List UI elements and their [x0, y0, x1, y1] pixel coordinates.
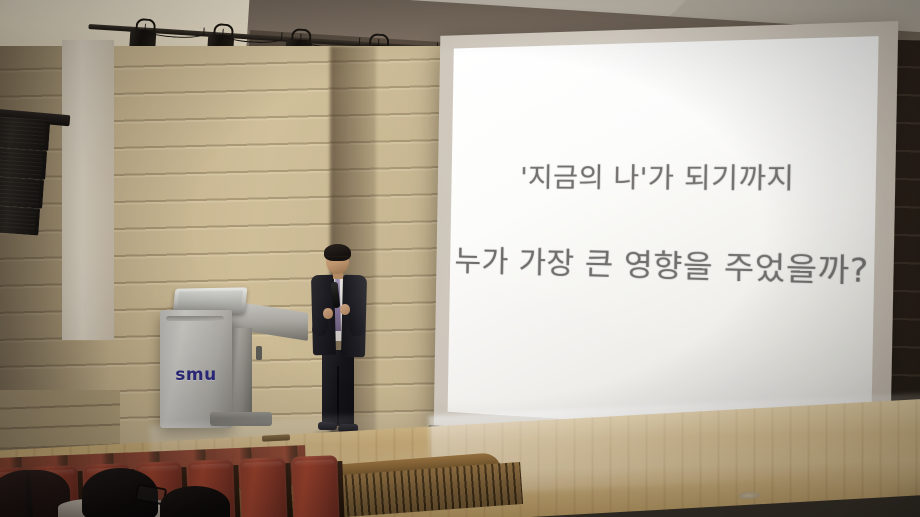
projection-screen: '지금의 나'가 되기까지 누가 가장 큰 영향을 주었을까? — [434, 21, 899, 459]
podium-vent-slot — [256, 346, 262, 360]
podium-monitor-screen — [177, 290, 243, 309]
presenter-glasses — [327, 256, 348, 262]
slide-heading-line-1: '지금의 나'가 되기까지 — [451, 156, 876, 197]
presenter — [306, 246, 370, 436]
slide-heading-line-2: 누가 가장 큰 영향을 주었을까? — [450, 237, 875, 292]
wall-corner-column — [62, 40, 114, 340]
screen-surface: '지금의 나'가 되기까지 누가 가장 큰 영향을 주었을까? — [448, 36, 879, 439]
line-array-speaker — [0, 116, 54, 246]
podium-body: smu — [160, 310, 232, 428]
lectern-podium: smu — [160, 288, 310, 428]
auditorium-scene: '지금의 나'가 되기까지 누가 가장 큰 영향을 주었을까? smu — [0, 0, 920, 517]
presenter-hand-left — [323, 308, 333, 319]
auditorium-seat — [291, 455, 339, 517]
presenter-hand-right — [340, 304, 350, 315]
auditorium-seat — [239, 457, 287, 517]
podium-logo: smu — [168, 365, 224, 385]
